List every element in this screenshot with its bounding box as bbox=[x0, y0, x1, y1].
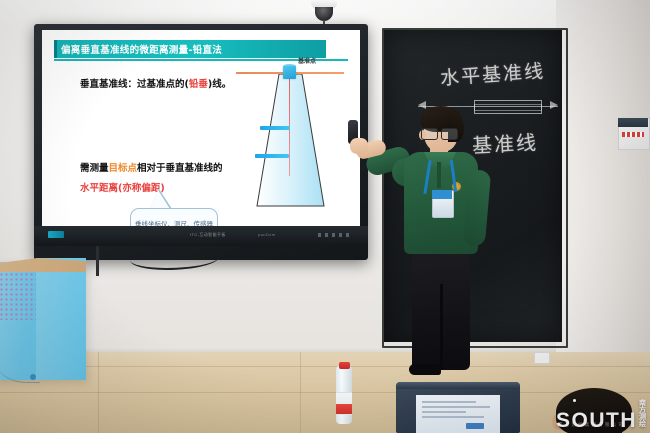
blackboard-text-2: 基准线 bbox=[471, 126, 538, 158]
slide-body-line-2: 需测量目标点相对于垂直基准线的 bbox=[80, 160, 223, 174]
display-brand-center: ITC-互动智能平板 bbox=[190, 232, 226, 238]
diagram-point-marker bbox=[283, 66, 296, 79]
blackboard-arrow-right bbox=[550, 101, 558, 109]
diagram-dam-shape bbox=[254, 74, 326, 208]
slide-line1-prefix: 垂直基准线：过基准点的( bbox=[80, 79, 189, 90]
callout-tail bbox=[150, 190, 170, 209]
wall-outlet bbox=[534, 352, 550, 364]
slide-line1-suffix: )线。 bbox=[208, 79, 231, 90]
slide-diagram: 基准点 bbox=[230, 44, 352, 220]
slide-body-line-1: 垂直基准线：过基准点的(铅垂)线。 bbox=[80, 76, 231, 90]
slide-callout: 垂线坐标仪、测尺、传感器 bbox=[130, 208, 218, 226]
laptop-screen[interactable] bbox=[416, 395, 500, 433]
watermark-subtitle: 南方测绘集团有限公司 bbox=[558, 422, 625, 428]
display-power-led bbox=[48, 231, 64, 238]
display-brand-right: panDom bbox=[258, 232, 276, 237]
banner-dot-pattern bbox=[0, 272, 40, 320]
wall-box-indicator bbox=[622, 132, 644, 137]
teacher-hand bbox=[350, 138, 368, 154]
blackboard-arrow-left bbox=[418, 101, 426, 109]
display-stand bbox=[96, 246, 99, 276]
watermark-cn-line-2: 测绘 bbox=[639, 414, 650, 428]
diagram-sensor-bar-1 bbox=[260, 126, 290, 130]
teacher-leg-seam bbox=[440, 284, 443, 370]
blackboard-rect-inner bbox=[474, 104, 542, 111]
right-wall bbox=[556, 0, 650, 372]
presentation-slide: 偏离垂直基准线的微距离测量-铅直法 垂直基准线：过基准点的(铅垂)线。 需测量目… bbox=[42, 30, 360, 226]
glasses-bridge bbox=[436, 131, 442, 132]
slide-line1-highlight: 铅垂 bbox=[189, 79, 208, 90]
display-control-buttons[interactable] bbox=[318, 233, 352, 237]
diagram-point-label: 基准点 bbox=[298, 56, 316, 65]
diagram-sensor-bar-2 bbox=[255, 154, 289, 158]
bottle-label-accent bbox=[336, 404, 352, 414]
glasses-left-lens bbox=[421, 128, 438, 140]
laptop-hinge bbox=[396, 382, 520, 389]
slide-title: 偏离垂直基准线的微距离测量-铅直法 bbox=[61, 42, 222, 56]
bottle-cap bbox=[339, 362, 350, 369]
watermark-chinese: 南方 测绘 bbox=[639, 400, 650, 431]
id-badge-header bbox=[432, 190, 452, 199]
teacher-shoe bbox=[409, 364, 441, 375]
wall-box-top bbox=[618, 118, 648, 127]
screenshot-scene: 水平基准线 基准线 偏离垂直基准线的微距离测量-铅直法 垂直基准线：过基准点的(… bbox=[0, 0, 650, 433]
display-screen[interactable]: 偏离垂直基准线的微距离测量-铅直法 垂直基准线：过基准点的(铅垂)线。 需测量目… bbox=[42, 30, 360, 226]
watermark-accent-dot bbox=[573, 399, 576, 402]
teacher-polo-placket bbox=[437, 162, 441, 188]
slide-line2-prefix: 需测量 bbox=[80, 163, 109, 174]
banner-fold-panel bbox=[36, 258, 86, 380]
glasses-right-lens bbox=[441, 128, 458, 140]
slide-line2-highlight: 目标点 bbox=[109, 163, 138, 174]
slide-line2-suffix: 相对于垂直基准线的 bbox=[137, 163, 223, 174]
